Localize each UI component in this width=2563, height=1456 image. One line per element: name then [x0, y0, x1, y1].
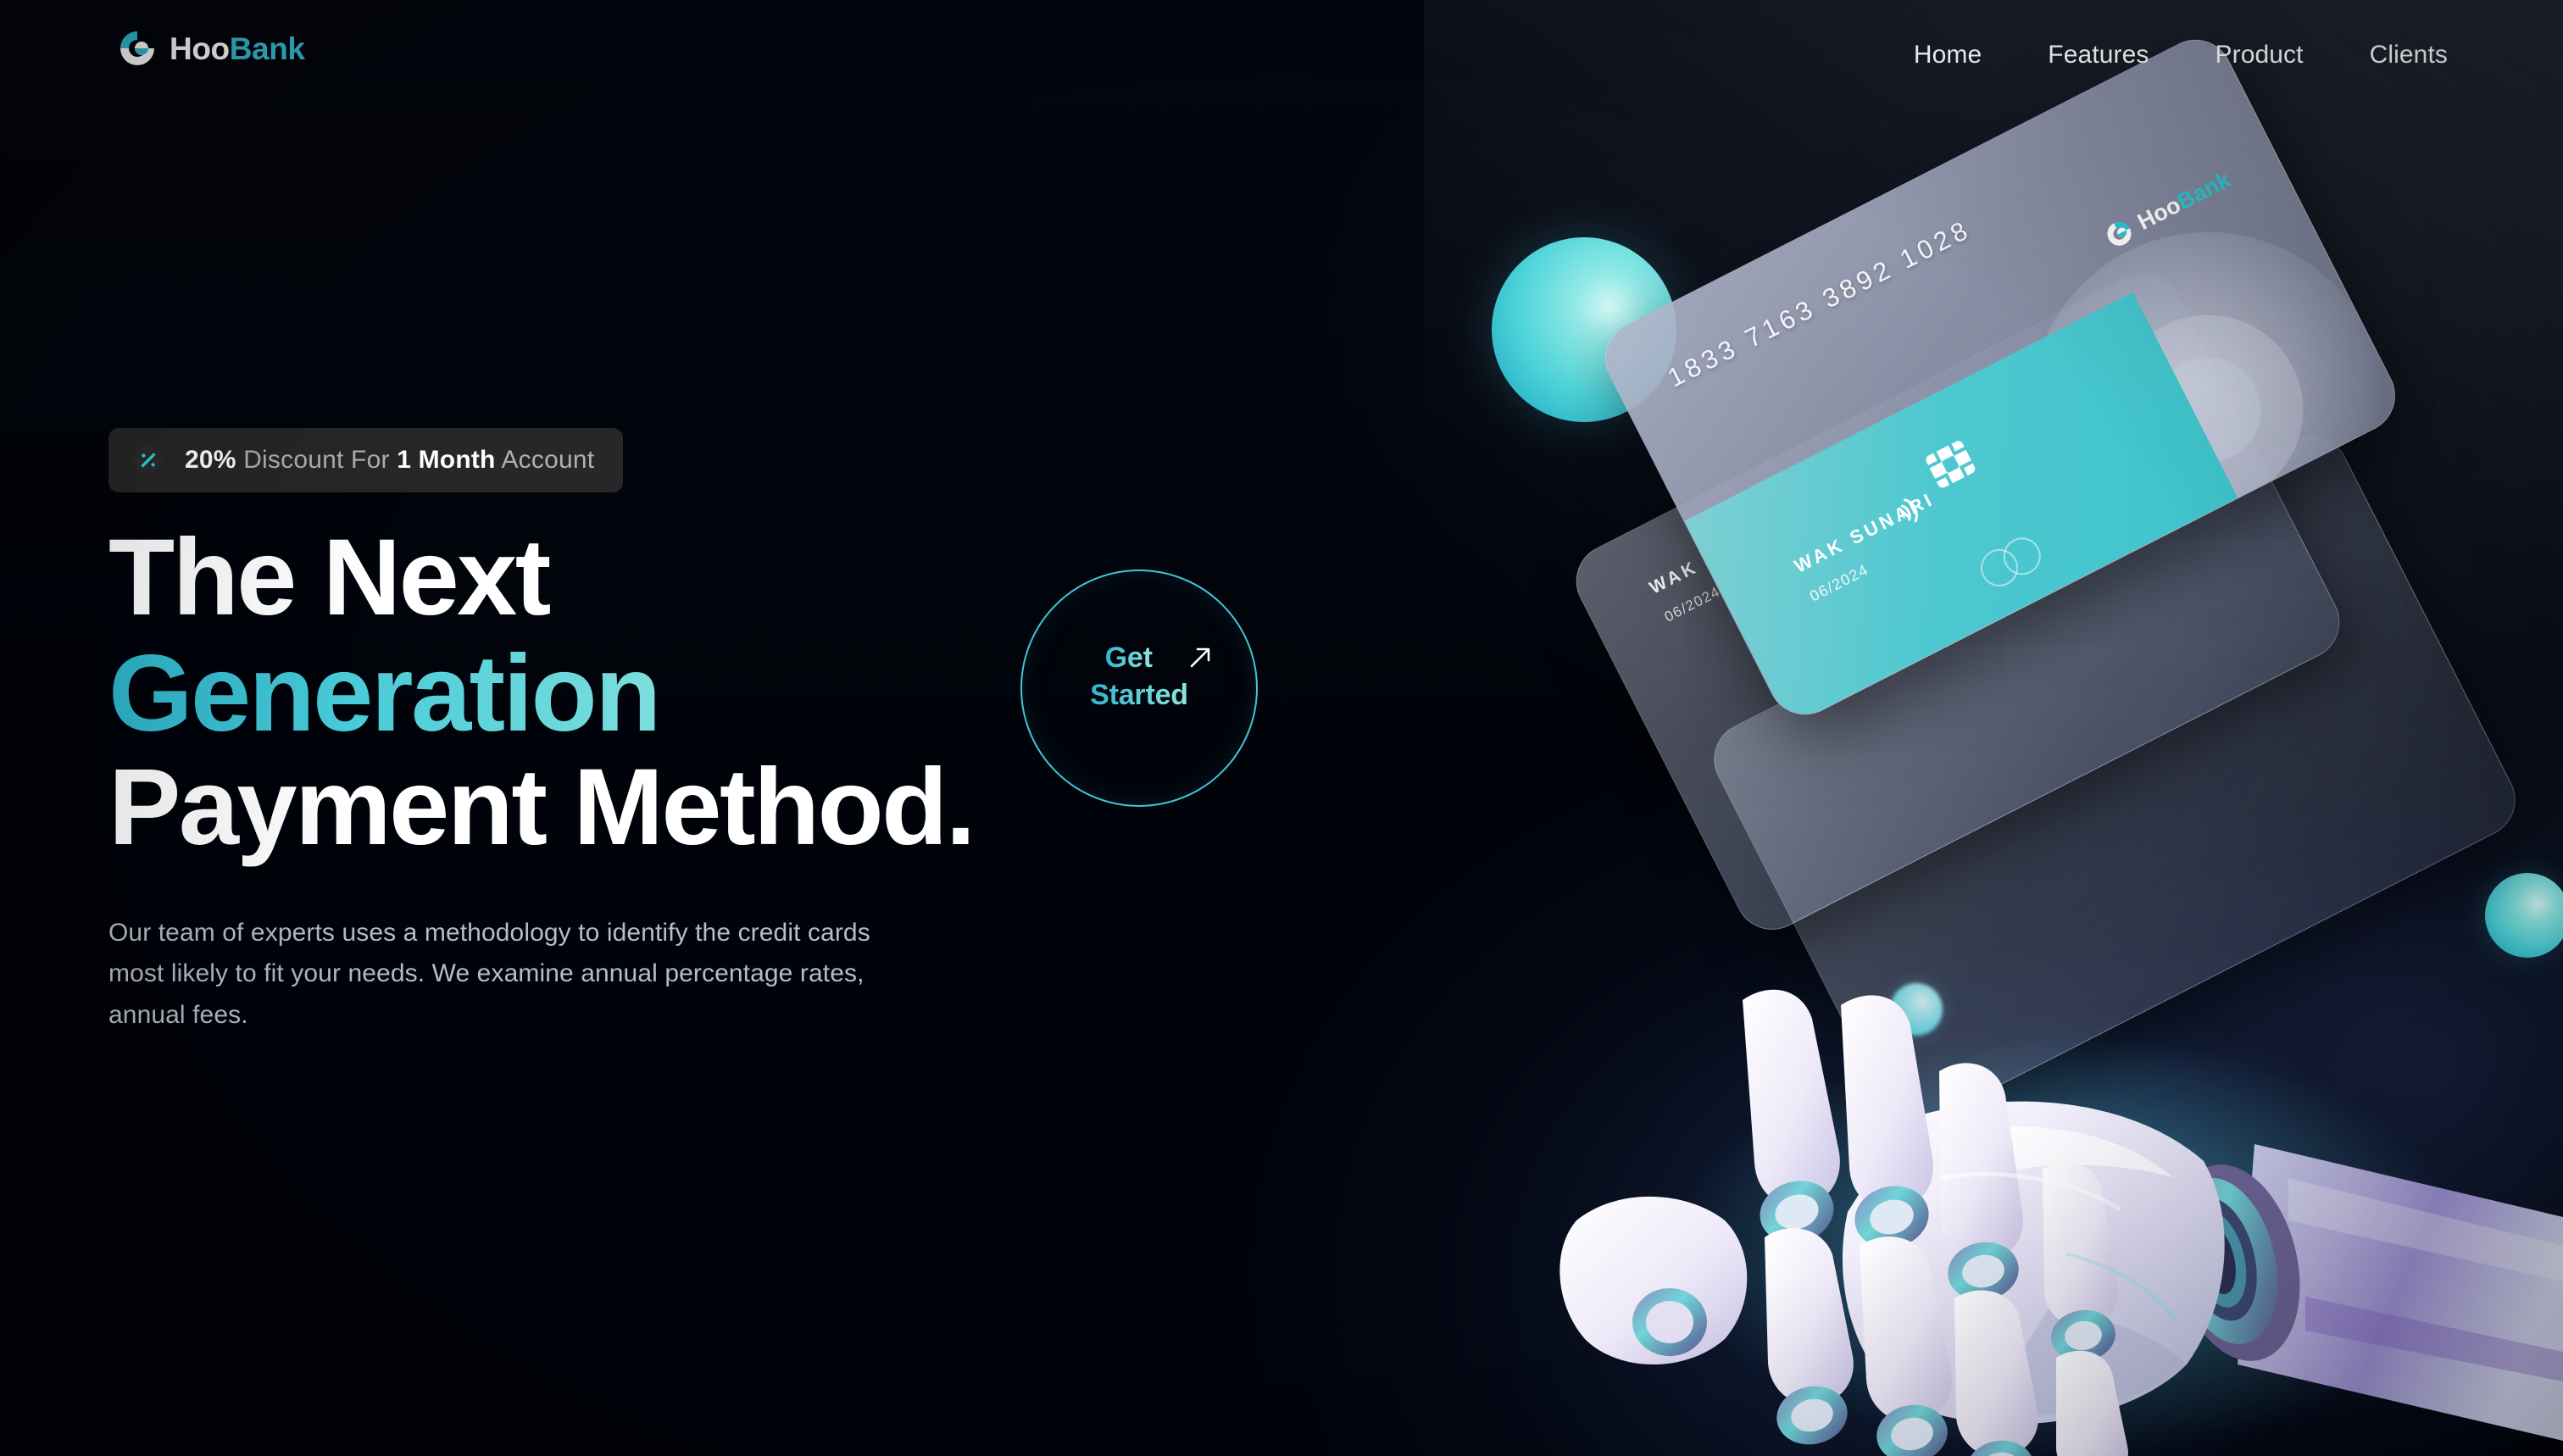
- get-started-label-line2: Started: [1090, 679, 1188, 712]
- hero-paragraph: Our team of experts uses a methodology t…: [108, 913, 897, 1036]
- headline-line-3: Payment Method.: [108, 753, 1210, 864]
- card-number: 1833 7163 3892 1028: [1663, 214, 1976, 393]
- brand-name-part2: Bank: [230, 31, 305, 66]
- nav-item-clients[interactable]: Clients: [2370, 41, 2448, 69]
- percent-badge-icon: [131, 442, 166, 478]
- hoobank-logo-icon: [2100, 214, 2139, 253]
- nav-item-home[interactable]: Home: [1914, 41, 1982, 69]
- get-started-label-line1: Get: [1105, 642, 1153, 675]
- brand-logo[interactable]: HooBank: [117, 28, 305, 69]
- discount-mid-text: Discount For: [236, 446, 398, 474]
- robotic-hand-illustration: [1543, 966, 2563, 1456]
- get-started-inner: Get Started: [1059, 642, 1220, 735]
- discount-tail-text: Account: [496, 446, 595, 474]
- main-navigation: Home Features Product Clients: [1914, 41, 2448, 69]
- discount-percent: 20%: [185, 446, 236, 474]
- site-header: HooBank Home Features Product Clients: [0, 0, 2563, 110]
- hero-artwork: WAK SUNARI 06/2024 1833 7163 3892 1028: [1441, 110, 2563, 1456]
- discount-duration: 1 Month: [397, 446, 495, 474]
- card-brand-name: HooBank: [2134, 168, 2234, 234]
- card-brand-part2: Bank: [2173, 166, 2234, 214]
- get-started-button[interactable]: Get Started: [1020, 570, 1258, 807]
- hoobank-logo-icon: [117, 28, 158, 69]
- brand-name-part1: Hoo: [170, 31, 230, 66]
- nav-item-product[interactable]: Product: [2216, 41, 2304, 69]
- brand-name: HooBank: [170, 33, 305, 64]
- teal-sphere-medium: [2485, 873, 2563, 958]
- nav-item-features[interactable]: Features: [2048, 41, 2149, 69]
- discount-text: 20% Discount For 1 Month Account: [185, 446, 594, 475]
- arrow-up-right-icon: [1186, 643, 1215, 672]
- discount-badge-pill[interactable]: 20% Discount For 1 Month Account: [108, 428, 623, 492]
